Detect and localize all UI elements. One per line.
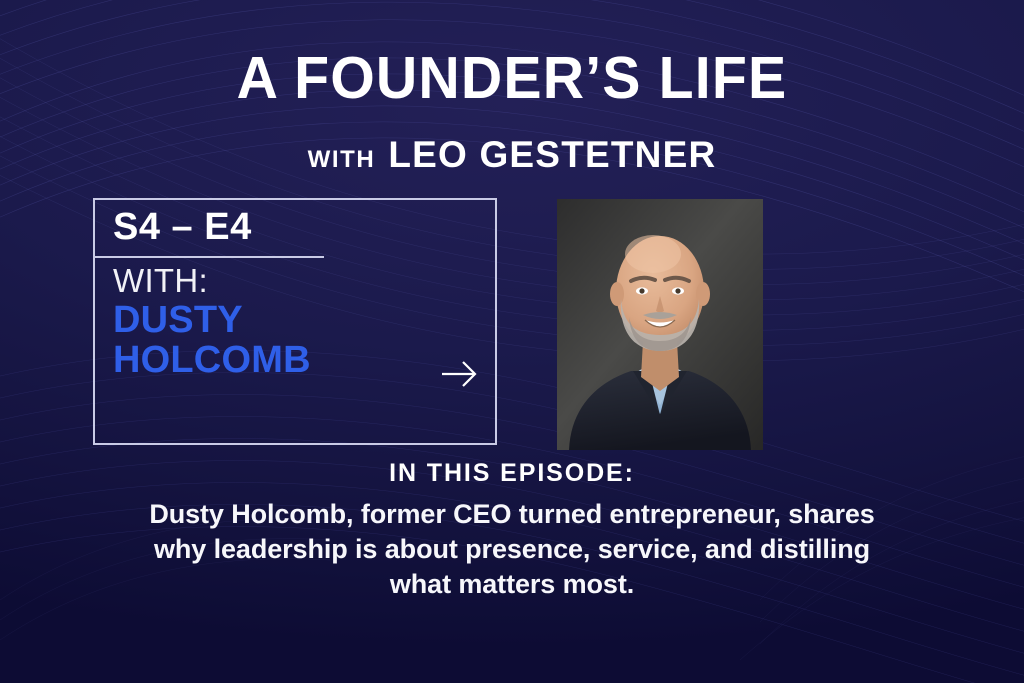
guest-name-line-2: HOLCOMB (113, 339, 311, 381)
summary-line-2: why leadership is about presence, servic… (0, 532, 1024, 567)
guest-name-line-1: DUSTY (113, 299, 243, 341)
arrow-right-icon[interactable] (440, 358, 480, 390)
episode-info-box: S4 – E4 WITH: DUSTY HOLCOMB (93, 198, 497, 445)
episode-summary-text: Dusty Holcomb, former CEO turned entrepr… (0, 497, 1024, 602)
in-this-episode-heading: IN THIS EPISODE: (0, 459, 1024, 488)
podcast-episode-card: A FOUNDER’S LIFE WITH LEO GESTETNER S4 –… (0, 0, 1024, 683)
summary-line-3: what matters most. (0, 567, 1024, 602)
episode-number-label: S4 – E4 (113, 206, 252, 249)
guest-name-label: DUSTY HOLCOMB (113, 300, 311, 381)
host-name-label: LEO GESTETNER (388, 134, 716, 176)
guest-prefix-label: WITH: (113, 262, 208, 300)
summary-line-1: Dusty Holcomb, former CEO turned entrepr… (0, 497, 1024, 532)
host-line: WITH LEO GESTETNER (0, 134, 1024, 176)
host-prefix-label: WITH (308, 146, 376, 174)
divider (95, 256, 324, 258)
page-title: A FOUNDER’S LIFE (15, 48, 1008, 110)
header: A FOUNDER’S LIFE WITH LEO GESTETNER (0, 48, 1024, 176)
guest-photo (557, 199, 763, 450)
episode-description-section: IN THIS EPISODE: Dusty Holcomb, former C… (0, 459, 1024, 602)
